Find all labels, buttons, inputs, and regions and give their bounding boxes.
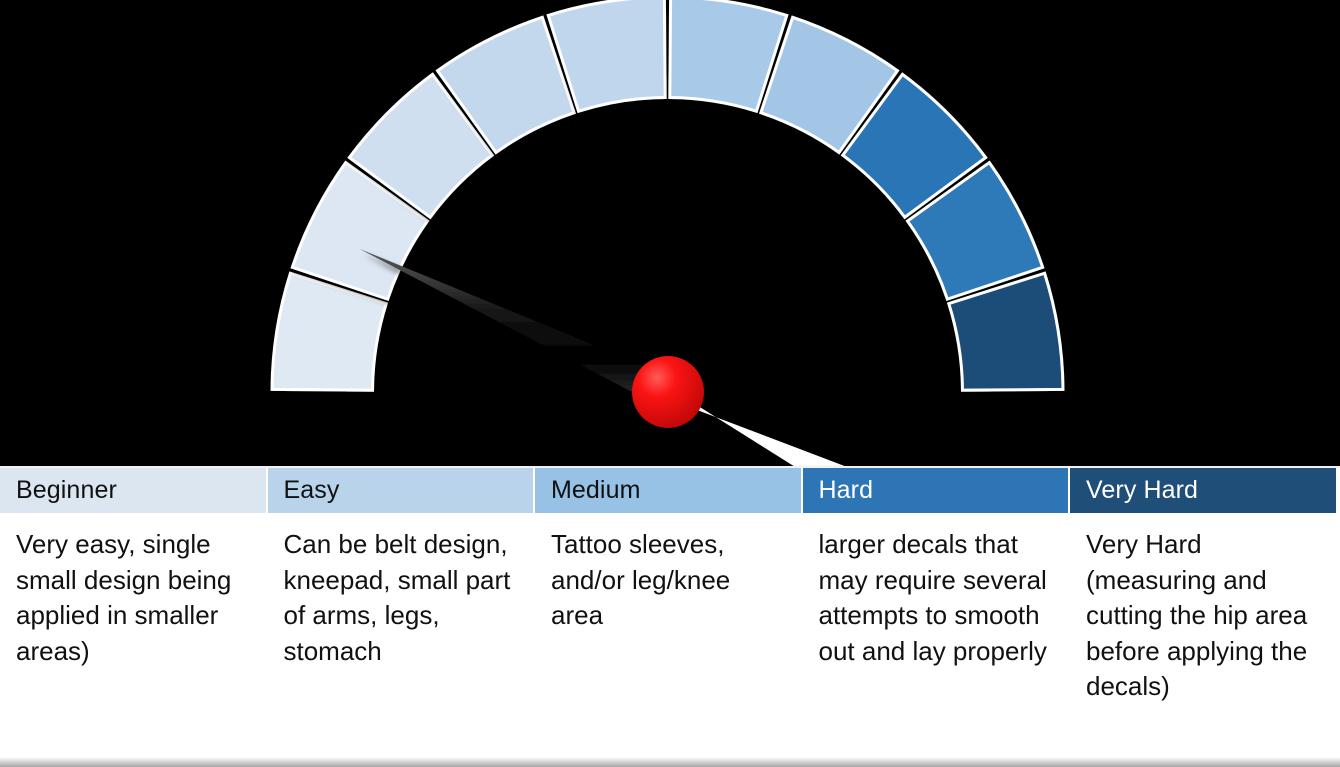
legend-column-body: Tattoo sleeves, and/or leg/knee area [535,513,801,767]
difficulty-gauge [0,0,1340,470]
legend-column-4: Hardlarger decals that may require sever… [803,468,1071,767]
gauge-segment-group [272,0,1063,390]
difficulty-legend-table: BeginnerVery easy, single small design b… [0,466,1340,767]
legend-column-header[interactable]: Beginner [0,468,266,513]
legend-column-header[interactable]: Easy [268,468,534,513]
gauge-hub [632,356,704,428]
legend-column-header[interactable]: Medium [535,468,801,513]
gauge-svg [0,0,1340,470]
legend-column-body: Very Hard (measuring and cutting the hip… [1070,513,1336,767]
legend-column-header[interactable]: Hard [803,468,1069,513]
legend-column-header[interactable]: Very Hard [1070,468,1336,513]
slide-canvas: BeginnerVery easy, single small design b… [0,0,1340,767]
legend-column-1: BeginnerVery easy, single small design b… [0,468,268,767]
gauge-needle [359,249,674,407]
legend-column-5: Very HardVery Hard (measuring and cuttin… [1070,468,1338,767]
legend-column-2: EasyCan be belt design, kneepad, small p… [268,468,536,767]
legend-column-body: larger decals that may require several a… [803,513,1069,767]
legend-column-body: Can be belt design, kneepad, small part … [268,513,534,767]
legend-column-body: Very easy, single small design being app… [0,513,266,767]
legend-column-3: MediumTattoo sleeves, and/or leg/knee ar… [535,468,803,767]
